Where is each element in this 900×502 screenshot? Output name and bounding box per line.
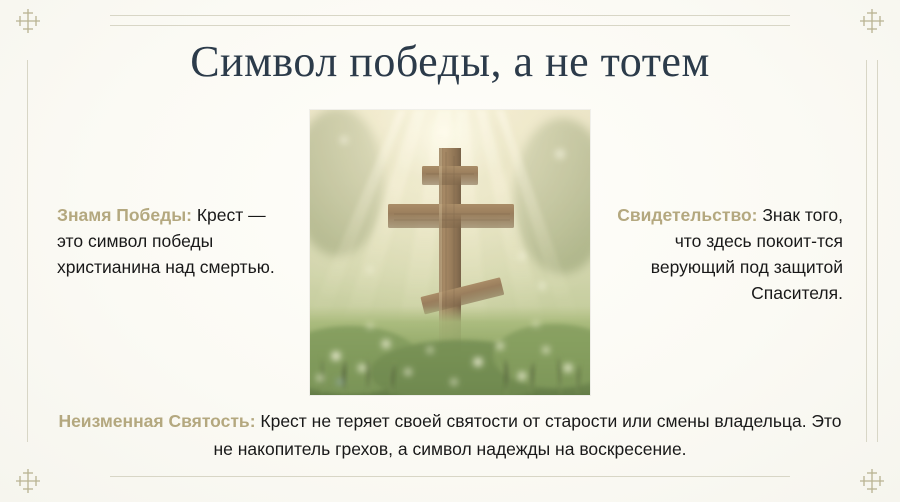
slide-canvas: Символ победы, а не тотем: [0, 0, 900, 502]
text-block-left-accent: Знамя Победы:: [57, 205, 192, 225]
frame-rule-right-outer: [877, 60, 878, 442]
frame-rule-right-inner: [866, 60, 867, 442]
text-block-bottom: Неизменная Святость: Крест не теряет сво…: [50, 407, 850, 463]
corner-cross-ornament-top-right: [857, 6, 887, 36]
frame-rule-left: [27, 60, 28, 442]
frame-rule-top-inner: [110, 25, 790, 26]
corner-cross-ornament-top-left: [13, 6, 43, 36]
slide-title: Символ победы, а не тотем: [0, 36, 900, 88]
frame-rule-bottom: [110, 476, 790, 477]
corner-cross-ornament-bottom-right: [857, 466, 887, 496]
orthodox-cross-photo: [310, 110, 590, 395]
corner-cross-ornament-bottom-left: [13, 466, 43, 496]
text-block-bottom-accent: Неизменная Святость:: [58, 411, 255, 431]
text-block-right: Свидетельство: Знак того, что здесь поко…: [611, 202, 843, 306]
frame-rule-top-outer: [110, 15, 790, 16]
text-block-left: Знамя Победы: Крест — это символ победы …: [57, 202, 289, 280]
text-block-right-accent: Свидетельство:: [617, 205, 757, 225]
text-block-bottom-body: Крест не теряет своей святости от старос…: [213, 411, 841, 459]
